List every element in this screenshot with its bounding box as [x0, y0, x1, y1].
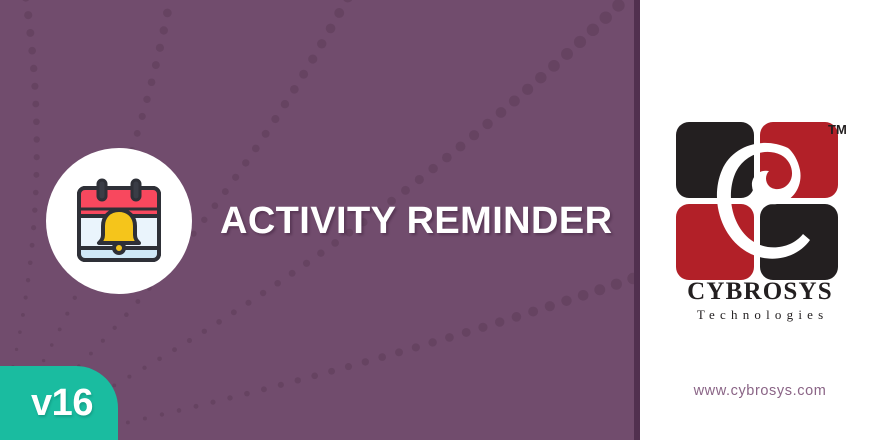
icon-badge-circle: [46, 148, 192, 294]
brand-wordmark: CYBROSYS: [640, 278, 880, 306]
trademark-symbol: TM: [828, 122, 847, 137]
version-badge: v16: [0, 366, 118, 440]
calendar-reminder-bell-icon: [74, 178, 164, 266]
left-purple-panel: ACTIVITY REMINDER v16: [0, 0, 634, 440]
right-brand-panel: TM CYBROSYS Technologies www.cybrosys.co…: [640, 0, 880, 440]
brand-website-url[interactable]: www.cybrosys.com: [640, 383, 880, 399]
activity-reminder-banner: ACTIVITY REMINDER v16 TM CYBROSYS Techno…: [0, 0, 880, 440]
version-badge-label: v16: [0, 366, 118, 440]
brand-tagline: Technologies: [640, 307, 880, 323]
page-title: ACTIVITY REMINDER: [220, 200, 612, 243]
cybrosys-c-logo: TM: [662, 112, 858, 284]
